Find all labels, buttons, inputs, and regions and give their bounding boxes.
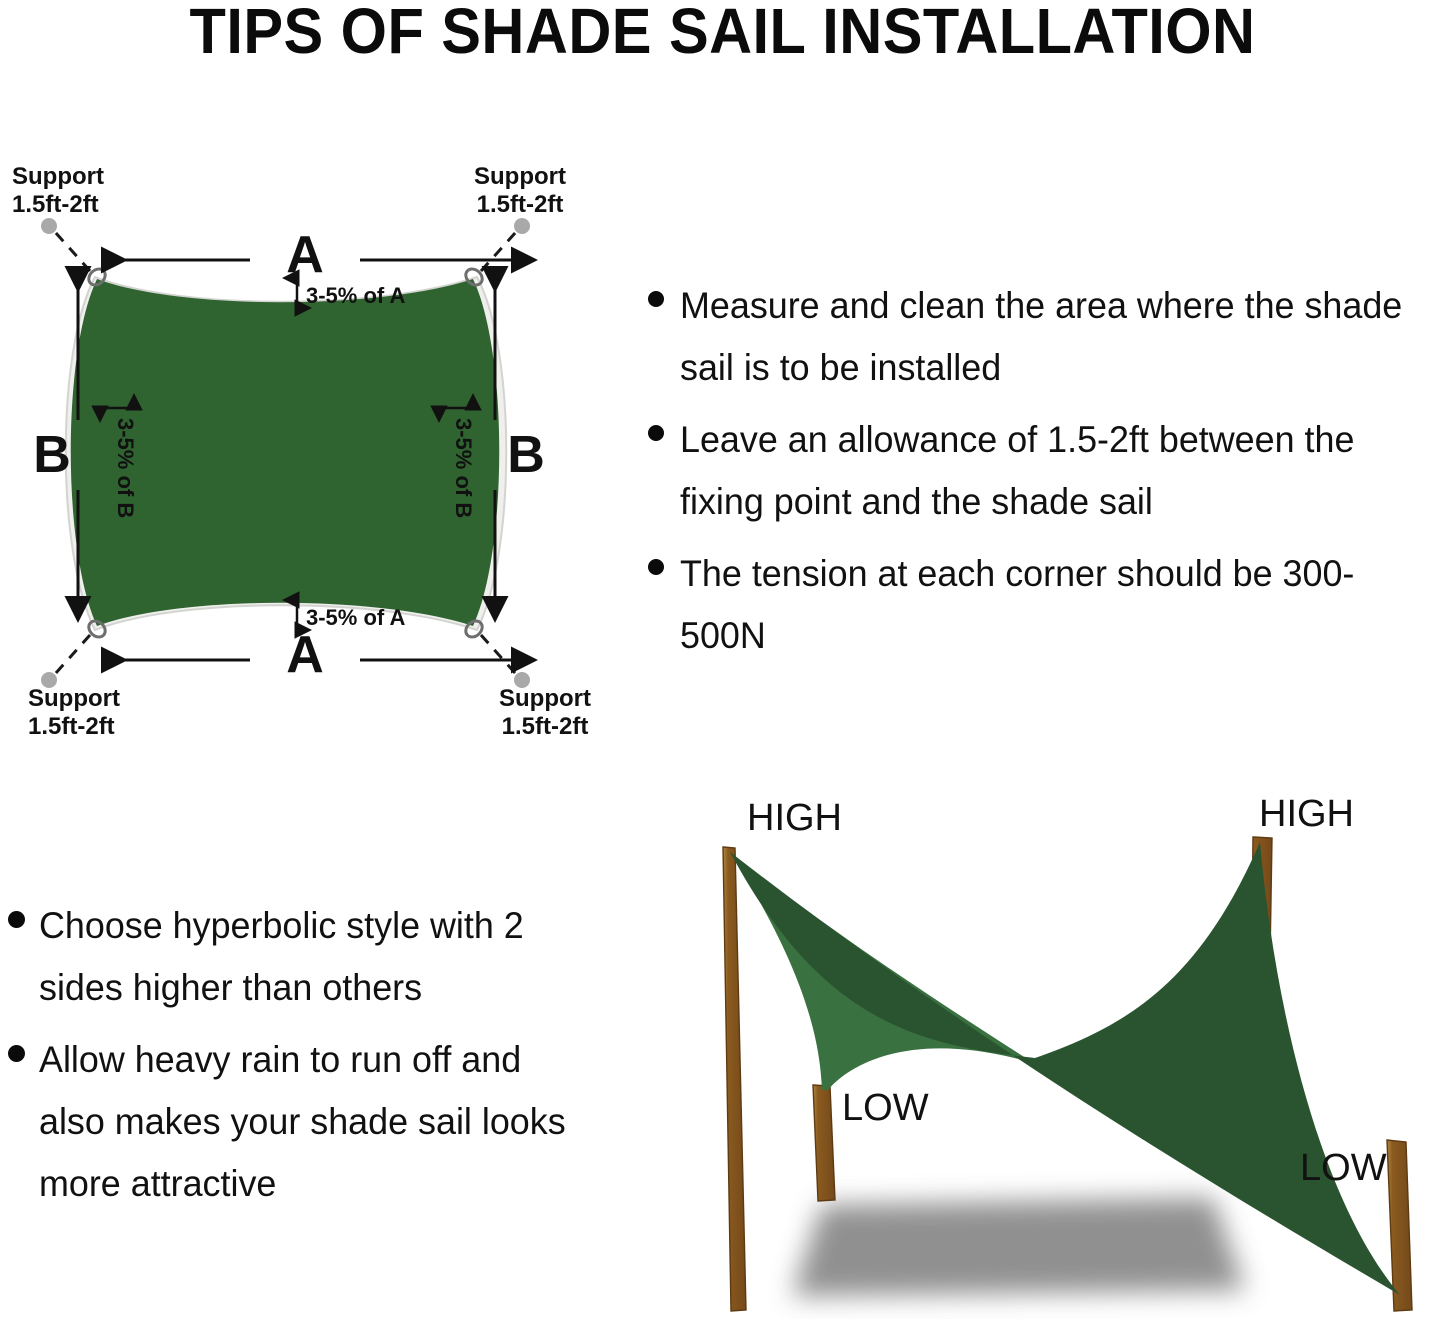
dimension-b-left-label: B (33, 426, 71, 484)
bullet-dot-icon (8, 911, 25, 928)
dimension-a-bottom-label: A (286, 626, 324, 684)
curve-callout-left-label: 3-5% of B (113, 418, 138, 518)
support-label-top-left: Support 1.5ft-2ft (12, 163, 104, 218)
label-high-left: HIGH (747, 797, 842, 839)
post-back-left (723, 847, 746, 1311)
label-high-right: HIGH (1259, 793, 1354, 835)
ground-shadow (792, 1198, 1245, 1296)
bullet-dot-icon (648, 559, 664, 575)
infographic-page: TIPS OF SHADE SAIL INSTALLATION (0, 0, 1445, 1319)
tips-list-installation: Measure and clean the area where the sha… (648, 275, 1445, 677)
support-value-text: 1.5ft-2ft (502, 713, 589, 740)
post-front-left-low (813, 1085, 835, 1201)
curve-callout-top: 3-5% of A (297, 278, 406, 308)
list-item: The tension at each corner should be 300… (648, 543, 1445, 667)
list-item: Leave an allowance of 1.5-2ft between th… (648, 409, 1445, 533)
bullet-dot-icon (8, 1045, 25, 1062)
support-value-text: 1.5ft-2ft (477, 191, 564, 218)
list-item-label: Allow heavy rain to run off and also mak… (39, 1029, 587, 1215)
list-item: Choose hyperbolic style with 2 sides hig… (0, 895, 620, 1019)
support-label-text: Support (12, 163, 104, 190)
list-item-label: Leave an allowance of 1.5-2ft between th… (680, 409, 1425, 533)
bullet-dot-icon (648, 425, 664, 441)
support-label-bottom-right: Support 1.5ft-2ft (499, 685, 591, 740)
list-item: Measure and clean the area where the sha… (648, 275, 1445, 399)
list-item-label: The tension at each corner should be 300… (680, 543, 1425, 667)
label-low-left: LOW (842, 1087, 929, 1129)
support-value-text: 1.5ft-2ft (28, 713, 115, 740)
curve-callout-top-label: 3-5% of A (306, 283, 406, 308)
tips-list-hyperbolic: Choose hyperbolic style with 2 sides hig… (0, 895, 620, 1225)
curve-callout-right-label: 3-5% of B (451, 418, 476, 518)
support-label-top-right: Support 1.5ft-2ft (474, 163, 566, 218)
dimension-a-top: A (125, 226, 535, 284)
label-low-right: LOW (1300, 1147, 1387, 1189)
list-item-label: Measure and clean the area where the sha… (680, 275, 1425, 399)
curve-callout-bottom-label: 3-5% of A (306, 605, 406, 630)
dimension-b-right-label: B (507, 426, 545, 484)
rectangular-sail-diagram: Support 1.5ft-2ft Support 1.5ft-2ft Supp… (0, 160, 660, 740)
dimension-a-top-label: A (286, 226, 324, 284)
list-item: Allow heavy rain to run off and also mak… (0, 1029, 620, 1215)
curve-callout-bottom: 3-5% of A (297, 600, 406, 630)
bullet-dot-icon (648, 291, 664, 307)
support-label-bottom-left: Support 1.5ft-2ft (28, 685, 120, 740)
dimension-a-bottom: A (125, 626, 535, 684)
support-label-text: Support (28, 685, 120, 712)
support-value-text: 1.5ft-2ft (12, 191, 99, 218)
list-item-label: Choose hyperbolic style with 2 sides hig… (39, 895, 587, 1019)
support-label-text: Support (499, 685, 591, 712)
hyperbolic-sail-diagram: HIGH HIGH LOW LOW (700, 790, 1445, 1319)
page-title: TIPS OF SHADE SAIL INSTALLATION (51, 0, 1395, 66)
support-label-text: Support (474, 163, 566, 190)
